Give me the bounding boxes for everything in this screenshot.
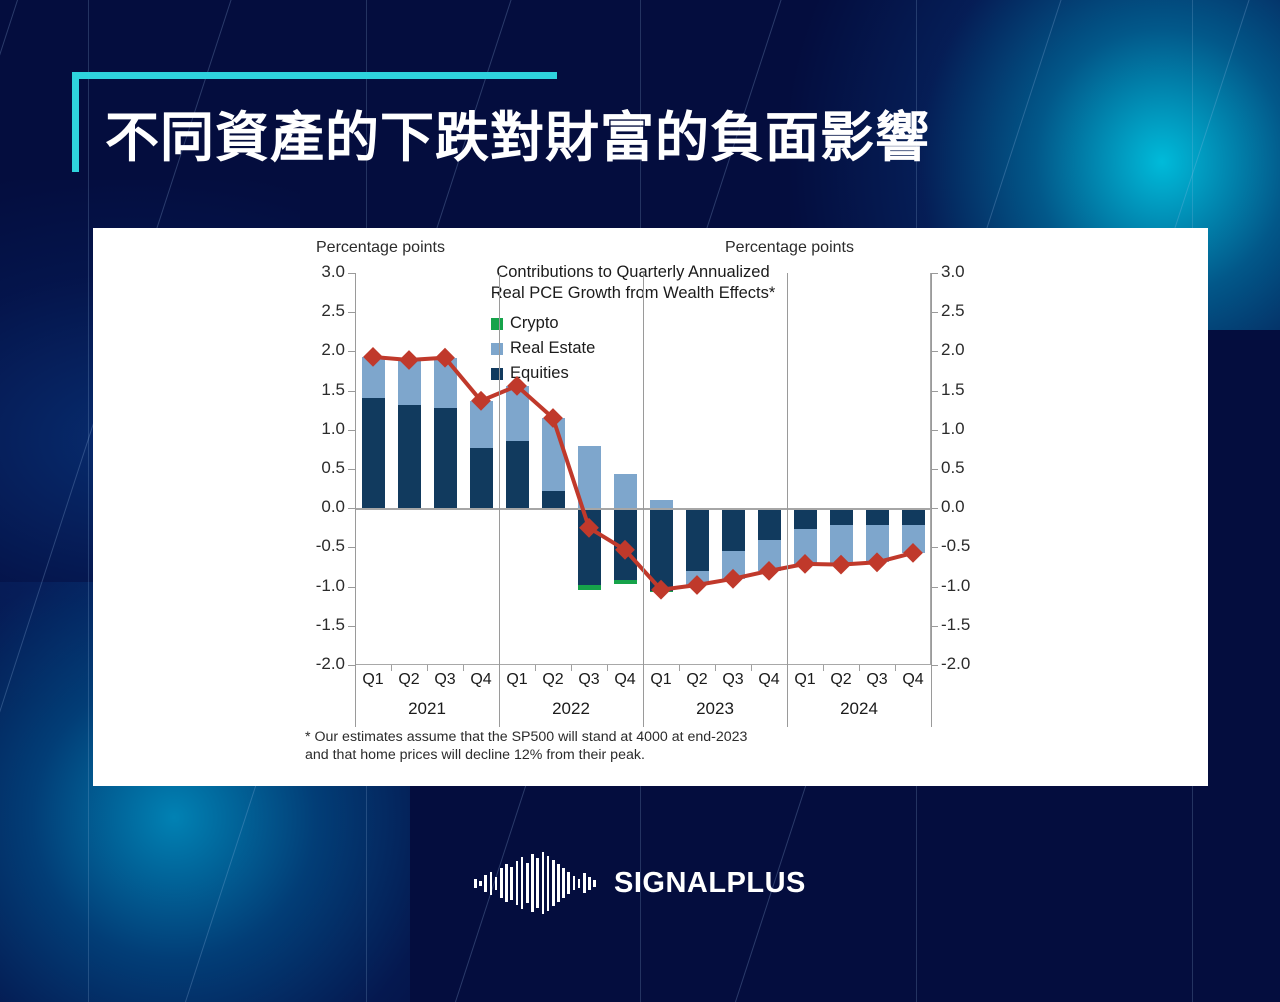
waveform-bar — [578, 879, 581, 888]
x-quarter-label: Q2 — [824, 671, 858, 689]
title-text: 不同資產的下跌對財富的負面影響 — [105, 93, 930, 172]
total-line-marker — [795, 554, 815, 574]
waveform-bar — [521, 857, 524, 909]
brand-logo: SIGNALPLUS — [0, 852, 1280, 914]
y-tick-label-right: 2.5 — [941, 301, 965, 321]
y-tick-label-right: 1.0 — [941, 419, 965, 439]
x-quarter-label: Q2 — [536, 671, 570, 689]
year-separator — [355, 273, 356, 727]
footnote-line-2: and that home prices will decline 12% fr… — [305, 746, 747, 764]
waveform-bar — [516, 861, 519, 905]
waveform-icon — [474, 852, 596, 914]
waveform-bar — [583, 873, 586, 893]
y-tick-mark-right — [931, 626, 938, 627]
y-tick-mark-left — [348, 312, 355, 313]
y-tick-mark-left — [348, 587, 355, 588]
total-line-marker — [831, 555, 851, 575]
y-tick-mark-right — [931, 312, 938, 313]
x-quarter-label: Q3 — [860, 671, 894, 689]
waveform-bar — [479, 881, 482, 886]
x-year-label: 2023 — [675, 699, 755, 719]
total-line-marker — [579, 518, 599, 538]
waveform-bar — [593, 880, 596, 887]
y-tick-mark-right — [931, 273, 938, 274]
y-tick-label-left: 1.0 — [321, 419, 345, 439]
waveform-bar — [536, 858, 539, 908]
total-line-marker — [903, 543, 923, 563]
y-tick-label-right: 2.0 — [941, 340, 965, 360]
y-tick-mark-left — [348, 665, 355, 666]
y-tick-mark-right — [931, 391, 938, 392]
total-line-marker — [867, 552, 887, 572]
y-tick-mark-right — [931, 469, 938, 470]
y-tick-mark-left — [348, 273, 355, 274]
waveform-bar — [500, 868, 503, 898]
chart-plot-area: 3.03.02.52.52.02.01.51.51.01.00.50.50.00… — [355, 273, 931, 665]
y-tick-mark-left — [348, 391, 355, 392]
axis-caption-right: Percentage points — [725, 239, 854, 257]
y-tick-label-right: -1.0 — [941, 576, 970, 596]
waveform-bar — [510, 867, 513, 900]
brand-name: SIGNALPLUS — [614, 867, 806, 900]
y-tick-label-right: 0.5 — [941, 458, 965, 478]
x-quarter-label: Q4 — [896, 671, 930, 689]
x-year-label: 2021 — [387, 699, 467, 719]
y-tick-label-left: 2.5 — [321, 301, 345, 321]
y-tick-label-left: -2.0 — [316, 654, 345, 674]
y-tick-label-left: 3.0 — [321, 262, 345, 282]
x-quarter-label: Q4 — [608, 671, 642, 689]
x-quarter-label: Q3 — [572, 671, 606, 689]
y-tick-mark-right — [931, 587, 938, 588]
x-quarter-label: Q1 — [356, 671, 390, 689]
y-tick-label-left: -0.5 — [316, 536, 345, 556]
x-quarter-label: Q1 — [500, 671, 534, 689]
y-tick-label-right: 1.5 — [941, 380, 965, 400]
y-tick-mark-right — [931, 665, 938, 666]
y-tick-mark-left — [348, 547, 355, 548]
waveform-bar — [588, 877, 591, 890]
waveform-bar — [547, 856, 550, 911]
waveform-bar — [490, 872, 493, 895]
footnote-line-1: * Our estimates assume that the SP500 wi… — [305, 728, 747, 746]
y-tick-label-left: -1.0 — [316, 576, 345, 596]
y-tick-mark-left — [348, 430, 355, 431]
y-tick-mark-right — [931, 351, 938, 352]
slide-root: 不同資產的下跌對財富的負面影響 Percentage points Percen… — [0, 0, 1280, 1002]
waveform-bar — [531, 854, 534, 912]
waveform-bar — [474, 879, 477, 888]
y-tick-mark-left — [348, 351, 355, 352]
axis-caption-left: Percentage points — [316, 239, 445, 257]
y-tick-label-left: 1.5 — [321, 380, 345, 400]
x-year-label: 2022 — [531, 699, 611, 719]
y-tick-label-left: 0.0 — [321, 497, 345, 517]
waveform-bar — [526, 863, 529, 903]
y-tick-label-right: -2.0 — [941, 654, 970, 674]
year-separator — [499, 273, 500, 727]
x-quarter-label: Q3 — [716, 671, 750, 689]
total-line-marker — [399, 350, 419, 370]
y-tick-label-left: -1.5 — [316, 615, 345, 635]
x-quarter-label: Q1 — [788, 671, 822, 689]
chart-footnote: * Our estimates assume that the SP500 wi… — [305, 728, 747, 764]
y-tick-mark-right — [931, 430, 938, 431]
chart-panel: Percentage points Percentage points Cont… — [93, 228, 1208, 786]
y-tick-mark-left — [348, 626, 355, 627]
year-separator — [787, 273, 788, 727]
total-line-marker — [759, 561, 779, 581]
waveform-bar — [573, 876, 576, 890]
total-line-marker — [363, 347, 383, 367]
year-separator — [643, 273, 644, 727]
waveform-bar — [484, 875, 487, 892]
x-year-label: 2024 — [819, 699, 899, 719]
waveform-bar — [562, 868, 565, 898]
x-quarter-label: Q2 — [680, 671, 714, 689]
waveform-bar — [495, 877, 498, 890]
waveform-bar — [542, 852, 545, 914]
y-tick-mark-right — [931, 508, 938, 509]
y-tick-label-left: 2.0 — [321, 340, 345, 360]
waveform-bar — [552, 860, 555, 906]
waveform-bar — [567, 872, 570, 894]
y-tick-mark-left — [348, 469, 355, 470]
y-tick-label-right: -0.5 — [941, 536, 970, 556]
x-quarter-label: Q3 — [428, 671, 462, 689]
x-quarter-label: Q2 — [392, 671, 426, 689]
y-tick-label-left: 0.5 — [321, 458, 345, 478]
title-accent-bar-horizontal — [72, 72, 557, 79]
y-tick-mark-left — [348, 508, 355, 509]
title-accent-bar-vertical — [72, 72, 79, 172]
x-quarter-label: Q4 — [464, 671, 498, 689]
waveform-bar — [505, 864, 508, 902]
waveform-bar — [557, 864, 560, 902]
y-tick-label-right: 0.0 — [941, 497, 965, 517]
x-quarter-label: Q1 — [644, 671, 678, 689]
x-quarter-label: Q4 — [752, 671, 786, 689]
y-tick-mark-right — [931, 547, 938, 548]
y-tick-label-right: 3.0 — [941, 262, 965, 282]
total-line-marker — [687, 575, 707, 595]
year-separator — [931, 273, 932, 727]
total-line-marker — [723, 569, 743, 589]
y-tick-label-right: -1.5 — [941, 615, 970, 635]
